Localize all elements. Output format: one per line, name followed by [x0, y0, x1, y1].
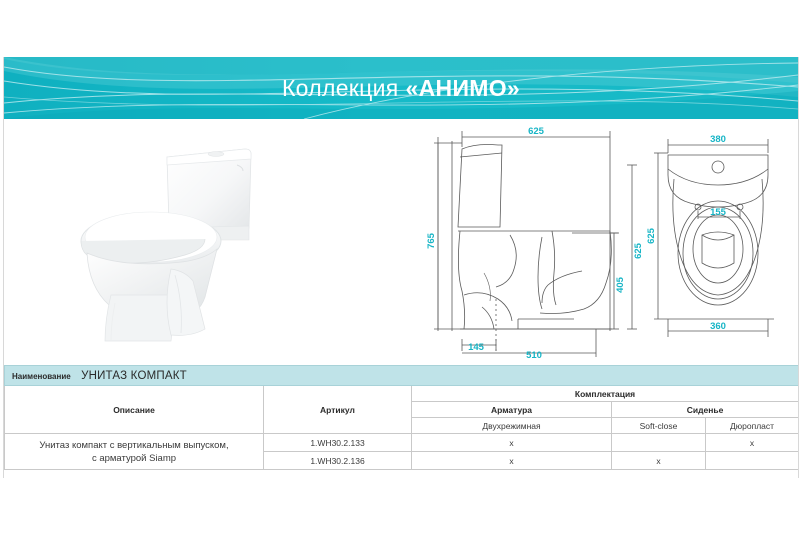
banner-title: Коллекция «АНИМО»	[4, 57, 798, 119]
th-fittings: Арматура	[412, 402, 612, 418]
th-article: Артикул	[264, 386, 412, 434]
dim-380: 380	[710, 134, 726, 145]
content-area: 625 145 510 765 625 405	[4, 119, 798, 365]
catalog-page: Коллекция «АНИМО»	[3, 57, 799, 478]
cell-article: 1.WH30.2.133	[264, 434, 412, 452]
spec-table: Наименование УНИТАЗ КОМПАКТ Описание Арт…	[4, 365, 799, 470]
cell-fittings-dual: x	[412, 452, 612, 470]
cell-seat-duroplast	[706, 452, 799, 470]
th-fittings-dual: Двухрежимная	[412, 418, 612, 434]
table-name-row: Наименование УНИТАЗ КОМПАКТ	[5, 366, 799, 386]
cell-seat-duroplast: x	[706, 434, 799, 452]
dim-510: 510	[526, 350, 542, 361]
dim-625-plan: 625	[646, 227, 657, 244]
dim-145: 145	[468, 342, 485, 353]
plan-view-drawing: 380 155 360 625	[644, 123, 799, 361]
cell-description: Унитаз компакт с вертикальным выпуском, …	[5, 434, 264, 470]
table-row[interactable]: Унитаз компакт с вертикальным выпуском, …	[5, 434, 799, 452]
dim-765: 765	[426, 232, 437, 249]
th-equipment: Комплектация	[412, 386, 799, 402]
table-header-row-1: Описание Артикул Комплектация	[5, 386, 799, 402]
description-line-1: Унитаз компакт с вертикальным выпуском,	[5, 439, 263, 452]
th-seat-softclose: Soft-close	[612, 418, 706, 434]
dim-625-top: 625	[528, 126, 545, 137]
dim-155: 155	[710, 207, 727, 218]
cell-article: 1.WH30.2.136	[264, 452, 412, 470]
cell-seat-softclose: x	[612, 452, 706, 470]
name-row-value: УНИТАЗ КОМПАКТ	[81, 370, 187, 382]
th-seat-duroplast: Дюропласт	[706, 418, 799, 434]
product-photo	[59, 127, 319, 357]
collection-banner: Коллекция «АНИМО»	[4, 57, 798, 119]
banner-title-bold: «АНИМО»	[406, 75, 520, 102]
cell-seat-softclose	[612, 434, 706, 452]
th-seat: Сиденье	[612, 402, 799, 418]
th-description: Описание	[5, 386, 264, 434]
name-row-label: Наименование	[12, 372, 71, 381]
description-line-2: с арматурой Siamp	[5, 452, 263, 465]
dim-405: 405	[615, 276, 626, 293]
side-elevation-drawing: 625 145 510 765 625 405	[422, 123, 662, 361]
dim-360: 360	[710, 321, 726, 332]
dim-625-right: 625	[633, 242, 644, 259]
banner-title-light: Коллекция	[282, 75, 399, 102]
spec-table-wrap: Наименование УНИТАЗ КОМПАКТ Описание Арт…	[4, 365, 798, 470]
cell-fittings-dual: x	[412, 434, 612, 452]
